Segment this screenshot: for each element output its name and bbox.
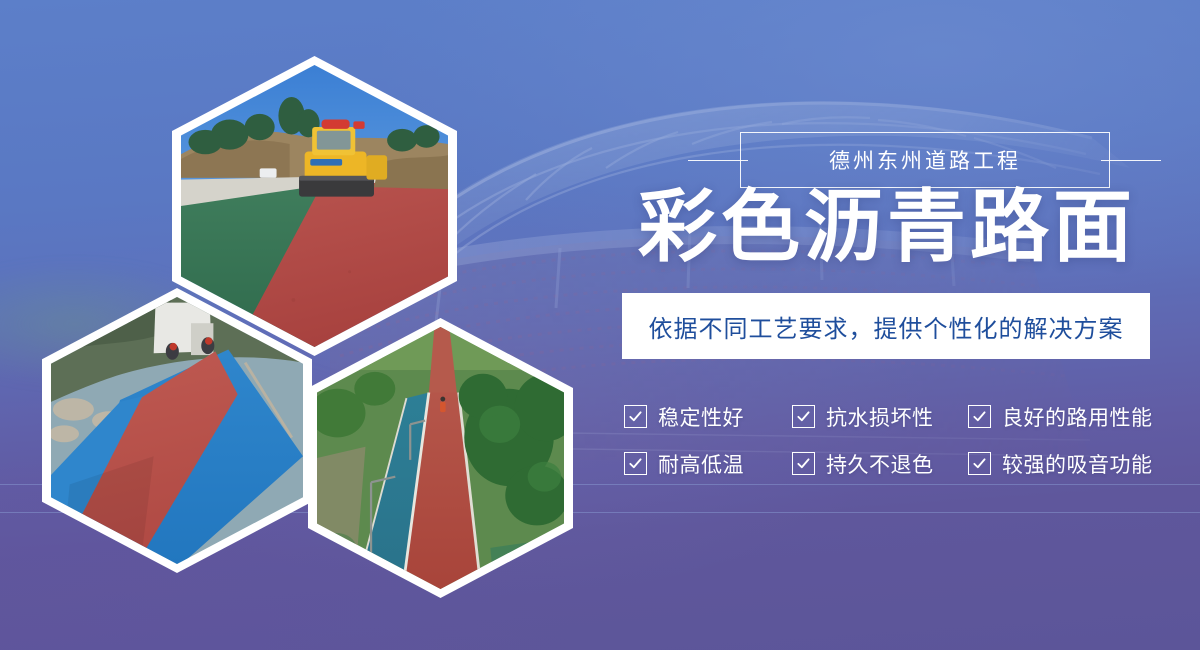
feature-list: 稳定性好 抗水损坏性 良好的路用性能 耐高低温	[624, 393, 1184, 487]
feature-item: 耐高低温	[624, 449, 792, 479]
check-box-icon	[792, 405, 815, 428]
feature-item: 较强的吸音功能	[968, 449, 1184, 479]
hex-photo-greenway-image	[317, 327, 564, 589]
hex-photo-road-roller-image	[181, 65, 448, 347]
banner-content: 德州东州道路工程 彩色沥青路面 依据不同工艺要求，提供个性化的解决方案 稳定性好…	[612, 0, 1200, 650]
feature-label: 较强的吸音功能	[1002, 449, 1153, 479]
hex-photo-red-blue-road-image	[51, 297, 303, 564]
eyebrow-rule-right	[1101, 160, 1161, 161]
feature-label: 耐高低温	[658, 449, 744, 479]
feature-item: 良好的路用性能	[968, 402, 1184, 432]
check-box-icon	[968, 405, 991, 428]
eyebrow-label-group: 德州东州道路工程	[688, 132, 1161, 188]
page-title: 彩色沥青路面	[638, 186, 1178, 269]
feature-item: 抗水损坏性	[792, 402, 968, 432]
feature-label: 良好的路用性能	[1002, 402, 1153, 432]
feature-label: 抗水损坏性	[826, 402, 934, 432]
check-box-icon	[792, 452, 815, 475]
check-box-icon	[968, 452, 991, 475]
feature-item: 持久不退色	[792, 449, 968, 479]
eyebrow-rule-left	[688, 160, 748, 161]
feature-label: 持久不退色	[826, 449, 934, 479]
eyebrow-text: 德州东州道路工程	[829, 145, 1021, 175]
eyebrow-frame: 德州东州道路工程	[740, 132, 1110, 188]
promo-banner: 德州东州道路工程 彩色沥青路面 依据不同工艺要求，提供个性化的解决方案 稳定性好…	[0, 0, 1200, 650]
subtitle-bar: 依据不同工艺要求，提供个性化的解决方案	[622, 293, 1150, 359]
check-box-icon	[624, 452, 647, 475]
feature-label: 稳定性好	[658, 402, 744, 432]
subtitle-text: 依据不同工艺要求，提供个性化的解决方案	[649, 309, 1124, 344]
check-box-icon	[624, 405, 647, 428]
feature-item: 稳定性好	[624, 402, 792, 432]
